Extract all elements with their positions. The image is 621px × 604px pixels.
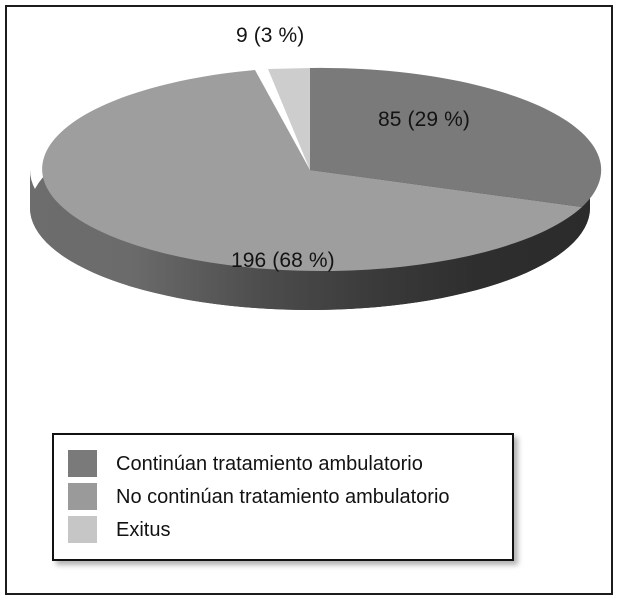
pie-top-face <box>42 68 601 271</box>
legend-swatch-no-continue <box>68 483 97 510</box>
legend-swatch-exitus <box>68 516 97 543</box>
legend-label-continue: Continúan tratamiento ambulatorio <box>116 454 423 474</box>
legend-label-exitus: Exitus <box>116 520 170 540</box>
slice-label-exitus: 9 (3 %) <box>236 24 304 48</box>
legend-item-no-continue[interactable]: No continúan tratamiento ambulatorio <box>68 480 504 513</box>
pie-chart-figure: 9 (3 %) 85 (29 %) 196 (68 %) Continúan t… <box>0 0 621 604</box>
legend-item-list: Continúan tratamiento ambulatorio No con… <box>68 447 504 546</box>
chart-legend: Continúan tratamiento ambulatorio No con… <box>52 433 514 561</box>
legend-swatch-continue <box>68 450 97 477</box>
legend-item-continue[interactable]: Continúan tratamiento ambulatorio <box>68 447 504 480</box>
slice-label-continue: 85 (29 %) <box>378 108 470 132</box>
legend-item-exitus[interactable]: Exitus <box>68 513 504 546</box>
slice-label-no-continue: 196 (68 %) <box>231 249 335 273</box>
legend-label-no-continue: No continúan tratamiento ambulatorio <box>116 487 450 507</box>
